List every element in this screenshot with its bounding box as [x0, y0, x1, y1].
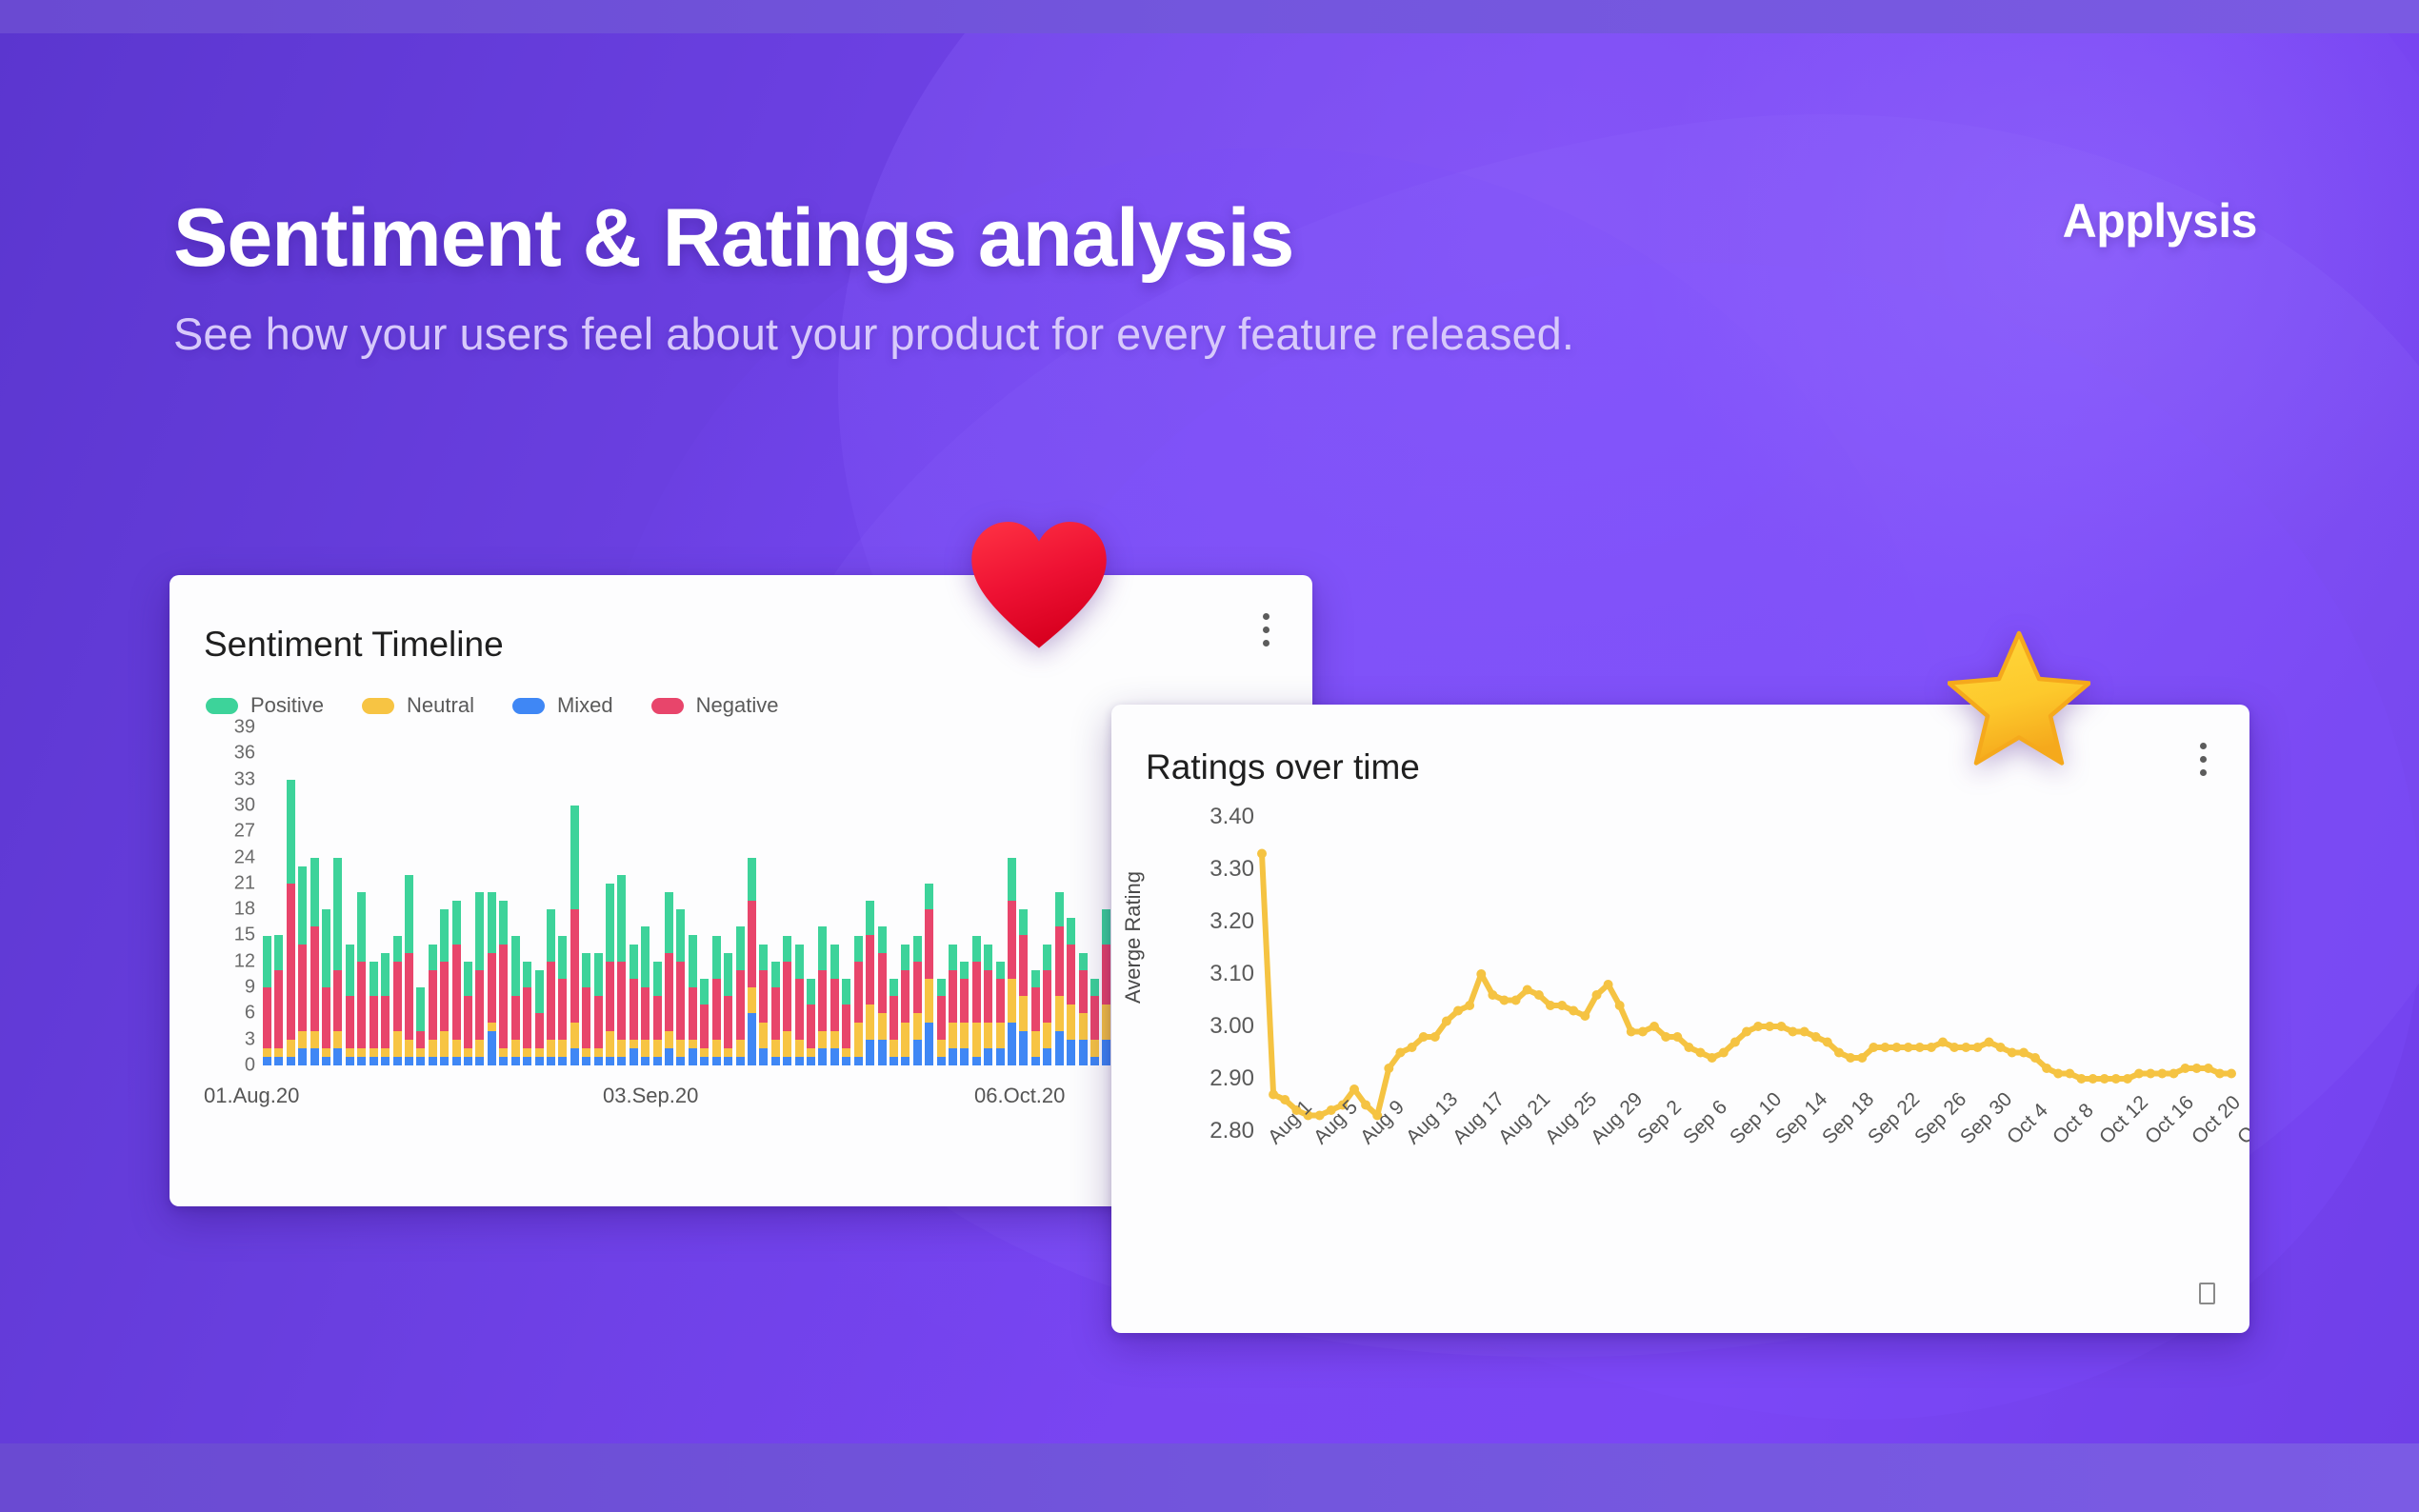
sentiment-bar-segment-negative	[558, 979, 567, 1040]
sentiment-bar-segment-neutral	[322, 1048, 330, 1057]
ratings-data-point[interactable]	[1523, 985, 1532, 995]
sentiment-bar[interactable]	[416, 987, 425, 1065]
sentiment-bar-segment-neutral	[1079, 1013, 1088, 1039]
ratings-data-point[interactable]	[1938, 1038, 1948, 1047]
ratings-data-point[interactable]	[1615, 1001, 1625, 1010]
sentiment-bar-segment-negative	[736, 970, 745, 1040]
sentiment-bar-segment-mixed	[416, 1057, 425, 1065]
sentiment-bar-segment-neutral	[606, 1031, 614, 1057]
ratings-data-point[interactable]	[2077, 1074, 2087, 1084]
ratings-data-point[interactable]	[2134, 1069, 2144, 1079]
sentiment-bar-segment-neutral	[440, 1031, 449, 1057]
sentiment-bar-segment-neutral	[925, 979, 933, 1023]
sentiment-bar-segment-mixed	[333, 1048, 342, 1065]
sentiment-bar-segment-mixed	[488, 1031, 496, 1065]
sentiment-bar[interactable]	[1019, 909, 1028, 1065]
legend-swatch-icon	[512, 698, 545, 714]
sentiment-bar-segment-mixed	[440, 1057, 449, 1065]
ratings-data-point[interactable]	[1511, 996, 1521, 1005]
ratings-data-point[interactable]	[1684, 1043, 1693, 1052]
sentiment-bar-segment-neutral	[1067, 1005, 1075, 1039]
ratings-data-point[interactable]	[1811, 1032, 1821, 1042]
sentiment-bar-segment-neutral	[795, 1040, 804, 1057]
ratings-data-point[interactable]	[2008, 1048, 2017, 1058]
ratings-data-point[interactable]	[1753, 1022, 1763, 1031]
ratings-data-point[interactable]	[2089, 1074, 2098, 1084]
sentiment-bar[interactable]	[842, 979, 850, 1065]
ratings-data-point[interactable]	[1627, 1027, 1636, 1037]
sentiment-bar-segment-neutral	[890, 1040, 898, 1057]
sentiment-bar[interactable]	[795, 945, 804, 1065]
sentiment-bar-segment-positive	[795, 945, 804, 979]
sentiment-bar[interactable]	[1043, 945, 1051, 1065]
sentiment-bar[interactable]	[890, 979, 898, 1065]
sentiment-bar[interactable]	[878, 926, 887, 1065]
sentiment-bar-segment-negative	[937, 996, 946, 1040]
sentiment-bar-segment-mixed	[960, 1048, 969, 1065]
ratings-data-point[interactable]	[1408, 1043, 1417, 1052]
sentiment-bar-segment-positive	[287, 780, 295, 884]
sentiment-bar-segment-neutral	[689, 1040, 697, 1048]
sentiment-bar[interactable]	[901, 945, 910, 1065]
sentiment-x-tick-label: 06.Oct.20	[974, 1084, 1065, 1108]
sentiment-bar-segment-mixed	[429, 1057, 437, 1065]
sentiment-bar-segment-negative	[960, 979, 969, 1023]
sentiment-bar-segment-positive	[996, 962, 1005, 979]
sentiment-bar[interactable]	[771, 962, 780, 1065]
sentiment-bar-segment-neutral	[547, 1040, 555, 1057]
sentiment-bar[interactable]	[475, 892, 484, 1065]
sentiment-bar-segment-mixed	[393, 1057, 402, 1065]
kebab-menu-icon[interactable]	[1251, 613, 1280, 655]
sentiment-bar-segment-negative	[606, 962, 614, 1031]
sentiment-bar-segment-negative	[405, 953, 413, 1040]
ratings-data-point[interactable]	[2227, 1069, 2236, 1079]
sentiment-bar[interactable]	[511, 936, 520, 1066]
sentiment-bar-segment-neutral	[452, 1040, 461, 1057]
sentiment-bar-segment-neutral	[830, 1031, 839, 1048]
sentiment-bar[interactable]	[653, 962, 662, 1065]
sentiment-bar[interactable]	[310, 858, 319, 1065]
ratings-data-point[interactable]	[1442, 1017, 1451, 1026]
sentiment-bar[interactable]	[854, 936, 863, 1066]
ratings-data-point[interactable]	[1834, 1048, 1844, 1058]
sentiment-bar[interactable]	[1090, 979, 1099, 1065]
sentiment-bar-segment-neutral	[287, 1040, 295, 1057]
sentiment-bar-segment-negative	[1019, 935, 1028, 996]
sentiment-bar[interactable]	[676, 909, 685, 1065]
sentiment-bar-segment-mixed	[1102, 1040, 1110, 1065]
ratings-data-point[interactable]	[1569, 1006, 1578, 1016]
ratings-data-point[interactable]	[1996, 1043, 2006, 1052]
ratings-data-point[interactable]	[1395, 1048, 1405, 1058]
sentiment-y-tick-label: 9	[245, 977, 255, 999]
ratings-y-tick-label: 3.40	[1209, 804, 1254, 830]
sentiment-bar-segment-negative	[1008, 901, 1016, 979]
ratings-data-point[interactable]	[1972, 1043, 1982, 1052]
sentiment-bar[interactable]	[346, 945, 354, 1065]
sentiment-bar[interactable]	[949, 945, 957, 1065]
ratings-data-point[interactable]	[1661, 1032, 1670, 1042]
ratings-data-point[interactable]	[1649, 1022, 1659, 1031]
sentiment-bar[interactable]	[996, 962, 1005, 1065]
sentiment-bar-segment-positive	[464, 962, 472, 996]
sentiment-bar-segment-mixed	[558, 1057, 567, 1065]
legend-item-neutral[interactable]: Neutral	[362, 693, 474, 718]
sentiment-y-tick-label: 24	[234, 846, 255, 868]
ratings-data-point[interactable]	[1927, 1043, 1936, 1052]
sentiment-bar-segment-negative	[499, 945, 508, 1048]
sentiment-bar-segment-negative	[1079, 970, 1088, 1014]
sentiment-bar-segment-positive	[1055, 892, 1064, 926]
ratings-data-point[interactable]	[1696, 1048, 1706, 1058]
sentiment-bar-segment-positive	[1090, 979, 1099, 996]
sentiment-bar[interactable]	[1079, 953, 1088, 1065]
sentiment-bar-segment-mixed	[298, 1048, 307, 1065]
legend-item-negative[interactable]: Negative	[651, 693, 779, 718]
sentiment-bar-segment-neutral	[488, 1023, 496, 1031]
ratings-data-point[interactable]	[1419, 1032, 1429, 1042]
sentiment-bar-segment-negative	[547, 962, 555, 1040]
sentiment-bar-segment-negative	[310, 926, 319, 1030]
ratings-data-point[interactable]	[2053, 1069, 2063, 1079]
ratings-data-point[interactable]	[1776, 1022, 1786, 1031]
ratings-data-point[interactable]	[1430, 1032, 1440, 1042]
ratings-data-point[interactable]	[2042, 1064, 2051, 1073]
ratings-data-point[interactable]	[1880, 1043, 1889, 1052]
ratings-data-point[interactable]	[2030, 1053, 2040, 1063]
sentiment-bar[interactable]	[287, 780, 295, 1065]
ratings-data-point[interactable]	[1257, 849, 1267, 859]
ratings-data-point[interactable]	[2065, 1069, 2074, 1079]
sentiment-bar-segment-mixed	[452, 1057, 461, 1065]
ratings-data-point[interactable]	[1534, 990, 1544, 1000]
ratings-data-point[interactable]	[1546, 1001, 1555, 1010]
sentiment-bar[interactable]	[1031, 970, 1040, 1065]
ratings-data-point[interactable]	[1604, 980, 1613, 989]
ratings-data-point[interactable]	[2123, 1074, 2132, 1084]
ratings-data-point[interactable]	[1949, 1043, 1959, 1052]
ratings-data-point[interactable]	[1500, 996, 1509, 1005]
sentiment-bar[interactable]	[1055, 892, 1064, 1065]
sentiment-bar-segment-negative	[700, 1005, 709, 1048]
ratings-card-title: Ratings over time	[1146, 747, 1420, 787]
sentiment-bar-segment-positive	[630, 945, 638, 979]
sentiment-bar[interactable]	[748, 858, 756, 1065]
ratings-data-point[interactable]	[1488, 990, 1497, 1000]
sentiment-bar-segment-neutral	[263, 1048, 271, 1057]
sentiment-bar-segment-positive	[263, 936, 271, 988]
sentiment-bar[interactable]	[925, 884, 933, 1065]
ratings-data-point[interactable]	[1384, 1064, 1393, 1073]
sentiment-bar-segment-negative	[689, 987, 697, 1040]
sentiment-bar-segment-mixed	[795, 1057, 804, 1065]
sentiment-bar-segment-neutral	[582, 1048, 590, 1057]
sentiment-bar-segment-mixed	[475, 1057, 484, 1065]
sentiment-bar-segment-positive	[925, 884, 933, 909]
sentiment-bar-segment-neutral	[736, 1040, 745, 1057]
sentiment-bar-segment-positive	[370, 962, 378, 996]
sentiment-bar-segment-negative	[712, 979, 721, 1040]
ratings-data-point[interactable]	[1708, 1053, 1717, 1063]
ratings-data-point[interactable]	[1453, 1006, 1463, 1016]
sentiment-x-tick-label: 01.Aug.20	[204, 1084, 299, 1108]
sentiment-bar-segment-positive	[357, 892, 366, 962]
sentiment-bar-segment-mixed	[346, 1057, 354, 1065]
sentiment-bar-segment-neutral	[594, 1048, 603, 1057]
ratings-data-point[interactable]	[2192, 1064, 2202, 1073]
kebab-menu-icon[interactable]	[2189, 743, 2217, 785]
sentiment-bar[interactable]	[393, 936, 402, 1066]
ratings-data-point[interactable]	[1280, 1095, 1289, 1104]
sentiment-bar-segment-negative	[1043, 970, 1051, 1023]
sentiment-y-tick-label: 30	[234, 794, 255, 816]
sentiment-bar[interactable]	[464, 962, 472, 1065]
ratings-data-point[interactable]	[2204, 1064, 2213, 1073]
sentiment-bar-segment-neutral	[429, 1040, 437, 1057]
sentiment-y-tick-label: 33	[234, 768, 255, 790]
sentiment-bar-segment-neutral	[1102, 1005, 1110, 1039]
sentiment-bar[interactable]	[617, 875, 626, 1065]
sentiment-bar[interactable]	[759, 945, 768, 1065]
sentiment-bar[interactable]	[818, 926, 827, 1065]
sentiment-bar[interactable]	[689, 935, 697, 1065]
sentiment-bar-segment-negative	[617, 962, 626, 1040]
sentiment-bar-segment-negative	[1102, 945, 1110, 1005]
sentiment-bar[interactable]	[547, 909, 555, 1065]
sentiment-bar-segment-negative	[665, 953, 673, 1031]
ratings-data-point[interactable]	[1915, 1043, 1925, 1052]
ratings-data-point[interactable]	[1638, 1027, 1648, 1037]
sentiment-bar-segment-negative	[452, 945, 461, 1040]
sentiment-bar-segment-negative	[996, 979, 1005, 1023]
sentiment-bar[interactable]	[700, 979, 709, 1065]
ratings-data-point[interactable]	[1349, 1084, 1359, 1094]
sentiment-bar-segment-positive	[984, 945, 992, 970]
sentiment-bar[interactable]	[606, 884, 614, 1065]
sentiment-bar-segment-neutral	[854, 1023, 863, 1057]
sentiment-bar-segment-neutral	[771, 1040, 780, 1057]
ratings-data-point[interactable]	[1846, 1053, 1855, 1063]
ratings-data-point[interactable]	[1269, 1090, 1278, 1100]
sentiment-bar[interactable]	[357, 892, 366, 1065]
sentiment-bar-segment-negative	[440, 962, 449, 1031]
ratings-data-point[interactable]	[1857, 1053, 1867, 1063]
sentiment-bar-segment-negative	[759, 970, 768, 1023]
sentiment-bar-segment-mixed	[676, 1057, 685, 1065]
sentiment-bar-segment-mixed	[890, 1057, 898, 1065]
expand-icon[interactable]	[2199, 1283, 2215, 1304]
sentiment-bar[interactable]	[736, 926, 745, 1065]
sentiment-bar-segment-negative	[416, 1031, 425, 1048]
sentiment-bar-segment-mixed	[357, 1057, 366, 1065]
ratings-data-point[interactable]	[1742, 1027, 1751, 1037]
sentiment-bar[interactable]	[641, 926, 650, 1065]
sentiment-bar[interactable]	[972, 936, 981, 1066]
sentiment-bar[interactable]	[499, 901, 508, 1065]
sentiment-bar-segment-negative	[582, 987, 590, 1048]
ratings-data-point[interactable]	[2169, 1069, 2178, 1079]
kebab-dot	[1263, 627, 1269, 633]
sentiment-bar-segment-positive	[842, 979, 850, 1005]
ratings-data-point[interactable]	[2215, 1069, 2225, 1079]
ratings-data-point[interactable]	[1789, 1027, 1798, 1037]
sentiment-bar-segment-negative	[807, 1005, 815, 1048]
ratings-data-point[interactable]	[1800, 1027, 1809, 1037]
sentiment-bar-segment-neutral	[393, 1031, 402, 1057]
sentiment-bar-segment-mixed	[322, 1057, 330, 1065]
sentiment-bar[interactable]	[370, 962, 378, 1065]
ratings-data-point[interactable]	[1557, 1001, 1567, 1010]
ratings-data-point[interactable]	[1361, 1101, 1370, 1110]
sentiment-bar-segment-negative	[393, 962, 402, 1031]
sentiment-bar[interactable]	[984, 945, 992, 1065]
sentiment-bar[interactable]	[263, 936, 271, 1066]
sentiment-bar[interactable]	[937, 979, 946, 1065]
sentiment-bar[interactable]	[866, 901, 874, 1065]
sentiment-bar-segment-mixed	[370, 1057, 378, 1065]
legend-swatch-icon	[651, 698, 684, 714]
sentiment-bar-segment-mixed	[1043, 1048, 1051, 1065]
sentiment-bar[interactable]	[1067, 918, 1075, 1065]
sentiment-bar-segment-mixed	[1079, 1040, 1088, 1065]
sentiment-bar-segment-negative	[972, 962, 981, 1023]
sentiment-bar-segment-mixed	[582, 1057, 590, 1065]
sentiment-bar[interactable]	[322, 909, 330, 1065]
sentiment-bar-segment-positive	[783, 936, 791, 962]
sentiment-bar-segment-negative	[890, 996, 898, 1040]
sentiment-bar-segment-neutral	[381, 1048, 390, 1057]
ratings-data-point[interactable]	[1476, 969, 1486, 979]
sentiment-bar[interactable]	[913, 936, 922, 1066]
sentiment-bar-segment-positive	[949, 945, 957, 970]
sentiment-bar[interactable]	[582, 953, 590, 1065]
ratings-data-point[interactable]	[2019, 1048, 2029, 1058]
sentiment-bar-segment-positive	[1031, 970, 1040, 987]
ratings-data-point[interactable]	[2181, 1064, 2190, 1073]
ratings-data-point[interactable]	[1985, 1038, 1994, 1047]
ratings-y-axis: 2.802.903.003.103.203.303.40	[1157, 817, 1254, 1131]
ratings-data-point[interactable]	[1765, 1022, 1774, 1031]
heart-emoji	[968, 519, 1110, 652]
ratings-data-point[interactable]	[1892, 1043, 1902, 1052]
hero-section: Sentiment & Ratings analysis See how you…	[173, 195, 1574, 360]
sentiment-bar-segment-positive	[346, 945, 354, 997]
sentiment-bar[interactable]	[960, 962, 969, 1065]
sentiment-bar-segment-neutral	[535, 1048, 544, 1057]
sentiment-bar[interactable]	[452, 901, 461, 1065]
legend-item-positive[interactable]: Positive	[206, 693, 324, 718]
sentiment-bar-segment-positive	[499, 901, 508, 945]
sentiment-bar[interactable]	[594, 953, 603, 1065]
ratings-over-time-card: Ratings over time Averge Rating 2.802.90…	[1111, 705, 2249, 1333]
sentiment-bar-segment-mixed	[287, 1057, 295, 1065]
sentiment-bar[interactable]	[298, 866, 307, 1065]
sentiment-bar[interactable]	[405, 875, 413, 1065]
sentiment-bar-segment-mixed	[925, 1023, 933, 1066]
sentiment-bar-segment-neutral	[630, 1040, 638, 1048]
sentiment-bar[interactable]	[570, 806, 579, 1065]
sentiment-bar[interactable]	[535, 970, 544, 1065]
sentiment-bar-segment-mixed	[866, 1040, 874, 1065]
sentiment-bar-segment-positive	[322, 909, 330, 987]
sentiment-bar[interactable]	[783, 936, 791, 1066]
sentiment-bar-segment-mixed	[724, 1057, 732, 1065]
sentiment-bar-segment-negative	[263, 987, 271, 1048]
sentiment-bar[interactable]	[488, 892, 496, 1065]
sentiment-bar[interactable]	[440, 909, 449, 1065]
ratings-data-point[interactable]	[1465, 1001, 1474, 1010]
sentiment-bar[interactable]	[807, 979, 815, 1065]
sentiment-bar[interactable]	[274, 935, 283, 1065]
ratings-data-point[interactable]	[1730, 1038, 1740, 1047]
sentiment-bar-segment-positive	[878, 926, 887, 952]
ratings-data-point[interactable]	[1961, 1043, 1970, 1052]
sentiment-bar[interactable]	[333, 858, 342, 1065]
ratings-data-point[interactable]	[1823, 1038, 1832, 1047]
sentiment-bar-segment-neutral	[712, 1040, 721, 1057]
sentiment-bar[interactable]	[665, 892, 673, 1065]
sentiment-bar-segment-mixed	[405, 1057, 413, 1065]
sentiment-bar-segment-positive	[712, 936, 721, 980]
sentiment-bar-segment-positive	[594, 953, 603, 997]
ratings-data-point[interactable]	[2111, 1074, 2121, 1084]
sentiment-bar-segment-neutral	[357, 1048, 366, 1057]
sentiment-bar-segment-mixed	[499, 1057, 508, 1065]
sentiment-bar[interactable]	[712, 936, 721, 1066]
sentiment-bar-segment-negative	[464, 996, 472, 1048]
sentiment-bar-segment-positive	[488, 892, 496, 953]
sentiment-bar-segment-mixed	[854, 1057, 863, 1065]
sentiment-bar-segment-positive	[393, 936, 402, 962]
sentiment-bar[interactable]	[630, 945, 638, 1065]
sentiment-bar[interactable]	[1008, 858, 1016, 1065]
sentiment-y-tick-label: 0	[245, 1055, 255, 1077]
ratings-data-point[interactable]	[2100, 1074, 2109, 1084]
sentiment-bar-segment-neutral	[996, 1023, 1005, 1048]
ratings-plot-area: Averge Rating 2.802.903.003.103.203.303.…	[1111, 817, 2249, 1293]
sentiment-bar[interactable]	[830, 945, 839, 1065]
ratings-data-point[interactable]	[1719, 1048, 1729, 1058]
star-emoji	[1948, 628, 2090, 766]
sentiment-bar[interactable]	[381, 953, 390, 1065]
ratings-data-point[interactable]	[1869, 1043, 1878, 1052]
ratings-data-point[interactable]	[1592, 990, 1602, 1000]
legend-item-mixed[interactable]: Mixed	[512, 693, 613, 718]
ratings-data-point[interactable]	[1904, 1043, 1913, 1052]
sentiment-bar[interactable]	[724, 953, 732, 1065]
sentiment-bar-segment-mixed	[996, 1048, 1005, 1065]
ratings-data-point[interactable]	[1672, 1032, 1682, 1042]
sentiment-bar-segment-positive	[617, 875, 626, 962]
sentiment-bar[interactable]	[1102, 909, 1110, 1065]
sentiment-bar-segment-negative	[370, 996, 378, 1048]
ratings-data-point[interactable]	[1580, 1011, 1589, 1021]
sentiment-bar-segment-positive	[1019, 909, 1028, 935]
sentiment-bar-segment-mixed	[570, 1048, 579, 1065]
ratings-data-point[interactable]	[2157, 1069, 2167, 1079]
sentiment-bar-segment-positive	[960, 962, 969, 979]
sentiment-bar[interactable]	[429, 945, 437, 1065]
sentiment-bar-segment-mixed	[263, 1057, 271, 1065]
sentiment-bar-segment-positive	[298, 866, 307, 945]
sentiment-bar[interactable]	[558, 936, 567, 1066]
sentiment-bar[interactable]	[523, 962, 531, 1065]
ratings-data-point[interactable]	[2146, 1069, 2155, 1079]
sentiment-bar-segment-mixed	[464, 1057, 472, 1065]
sentiment-bar-segment-negative	[322, 987, 330, 1048]
page-subtitle: See how your users feel about your produ…	[173, 308, 1574, 360]
